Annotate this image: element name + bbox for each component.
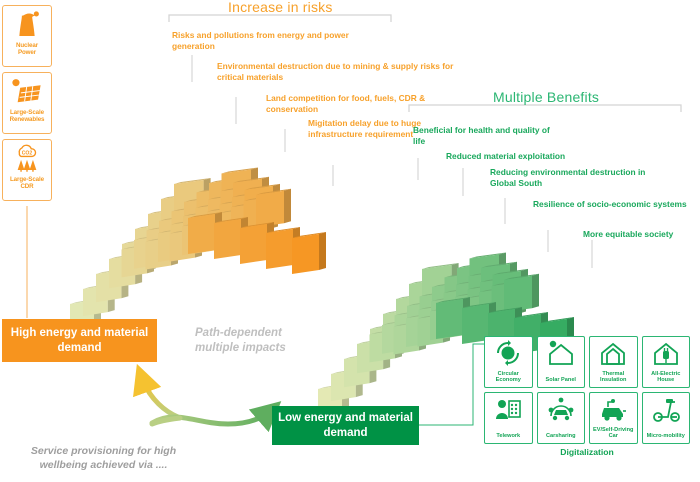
digitalization-item-label: Circular Economy [485, 371, 532, 384]
source-box-cdr[interactable]: CO2 Large-ScaleCDR [2, 139, 52, 201]
digitalization-item-ev-self-driving-car[interactable]: EV/Self-Driving Car [589, 392, 638, 444]
cdr-trees-icon: CO2 [10, 144, 44, 174]
digitalization-title: Digitalization [484, 447, 690, 457]
low-demand-box[interactable]: Low energy and material demand [272, 406, 419, 445]
source-label-nuclear: NuclearPower [16, 42, 38, 57]
carsharing-icon [547, 396, 575, 422]
benefit-label-0: Beneficial for health and quality of lif… [413, 125, 563, 147]
digitalization-item-label: EV/Self-Driving Car [590, 427, 637, 440]
source-box-renewables[interactable]: Large-ScaleRenewables [2, 72, 52, 134]
service-provisioning-note: Service provisioning for high wellbeing … [16, 444, 191, 472]
solar-panel-house-icon [547, 340, 575, 366]
risk-bracket [169, 15, 391, 22]
source-box-nuclear-power[interactable]: NuclearPower [2, 5, 52, 67]
path-dependent-note: Path-dependent multiple impacts [195, 326, 315, 356]
benefit-label-2: Reducing environmental destruction in Gl… [490, 167, 660, 189]
micro-mobility-icon [652, 396, 680, 422]
digitalization-item-telework[interactable]: Telework [484, 392, 533, 444]
digitalization-item-thermal-insulation[interactable]: Thermal Insulation [589, 336, 638, 388]
digitalization-item-label: Telework [485, 433, 532, 440]
digitalization-item-label: Carsharing [538, 433, 585, 440]
nuclear-power-icon [10, 10, 44, 40]
digitalization-item-label: Thermal Insulation [590, 371, 637, 384]
domino-tile [504, 274, 539, 312]
digitalization-connector [419, 344, 484, 425]
thermal-insulation-icon [599, 340, 627, 366]
domino-tile [256, 189, 291, 227]
risk-label-0: Risks and pollutions from energy and pow… [172, 30, 387, 52]
risk-label-2: Land competition for food, fuels, CDR & … [266, 93, 456, 115]
ev-car-icon [599, 396, 627, 422]
digitalization-item-carsharing[interactable]: Carsharing [537, 392, 586, 444]
circular-economy-icon [494, 340, 522, 366]
benefit-label-3: Resilience of socio-economic systems [533, 199, 688, 210]
benefit-label-4: More equitable society [583, 229, 698, 240]
digitalization-item-label: Micro-mobility [643, 433, 690, 440]
risk-title: Increase in risks [228, 0, 333, 15]
digitalization-item-all-electric-house[interactable]: All-Electric House [642, 336, 691, 388]
benefit-label-1: Reduced material exploitation [446, 151, 646, 162]
infographic-canvas: NuclearPower Large-ScaleRenewables CO2 L… [0, 0, 700, 482]
source-label-cdr: Large-ScaleCDR [10, 176, 44, 191]
digitalization-item-micro-mobility[interactable]: Micro-mobility [642, 392, 691, 444]
fork-arrow-up [142, 378, 178, 417]
source-label-renewables: Large-ScaleRenewables [10, 109, 45, 124]
digitalization-item-label: Solar Panel [538, 377, 585, 384]
telework-icon [494, 396, 522, 422]
all-electric-house-icon [652, 340, 680, 366]
digitalization-panel: Circular Economy Solar Panel Thermal Ins… [484, 336, 690, 462]
svg-text:CO2: CO2 [22, 150, 33, 156]
digitalization-item-circular-economy[interactable]: Circular Economy [484, 336, 533, 388]
solar-array-icon [10, 77, 44, 107]
digitalization-item-solar-panel[interactable]: Solar Panel [537, 336, 586, 388]
domino-tile [292, 232, 326, 274]
risk-label-1: Environmental destruction due to mining … [217, 61, 467, 83]
high-demand-box[interactable]: High energy and material demand [2, 319, 157, 362]
digitalization-item-label: All-Electric House [643, 371, 690, 384]
benefit-title: Multiple Benefits [493, 89, 599, 105]
